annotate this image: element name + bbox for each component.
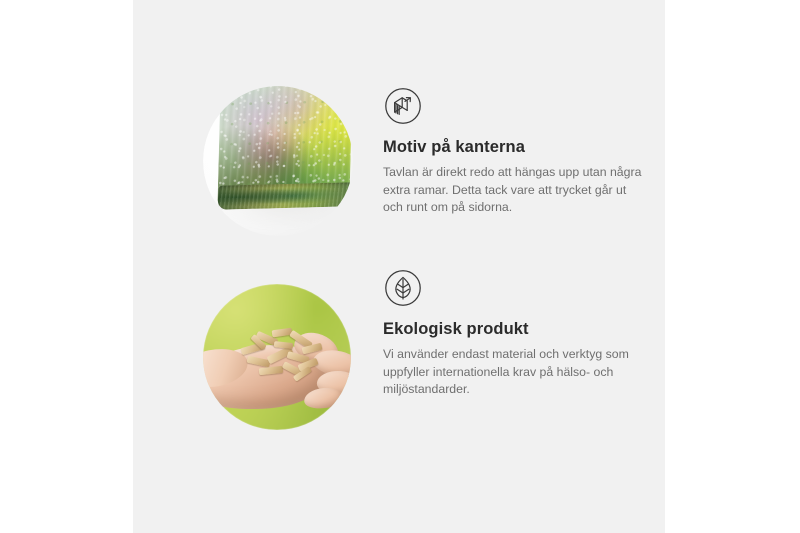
leaf-icon [383, 268, 423, 308]
feature-block-eco: Ekologisk produkt Vi använder endast mat… [133, 268, 665, 433]
feature-title: Ekologisk produkt [383, 320, 661, 340]
feature-title: Motiv på kanterna [383, 138, 661, 158]
feature-body: Vi använder endast material och verktyg … [383, 346, 645, 399]
feature-block-edges: Motiv på kanterna Tavlan är direkt redo … [133, 86, 665, 251]
canvas-wrapped-side-edge [218, 182, 353, 210]
wood-chip [259, 366, 284, 376]
wood-chip-pile [237, 326, 330, 384]
product-feature-graphic: Motiv på kanterna Tavlan är direkt redo … [0, 0, 800, 533]
feature-body: Tavlan är direkt redo att hängas upp uta… [383, 164, 645, 217]
hands-holding-wood-chips-photo [203, 284, 351, 430]
canvas-print-corner-photo [203, 86, 353, 236]
canvas-wrapped-edges-icon [383, 86, 423, 126]
feature-text-eco: Ekologisk produkt Vi använder endast mat… [383, 268, 661, 399]
hands-group [203, 331, 351, 416]
feature-text-edges: Motiv på kanterna Tavlan är direkt redo … [383, 86, 661, 217]
content-panel: Motiv på kanterna Tavlan är direkt redo … [133, 0, 665, 533]
canvas-print-object [219, 86, 353, 234]
wood-chip [274, 341, 293, 349]
